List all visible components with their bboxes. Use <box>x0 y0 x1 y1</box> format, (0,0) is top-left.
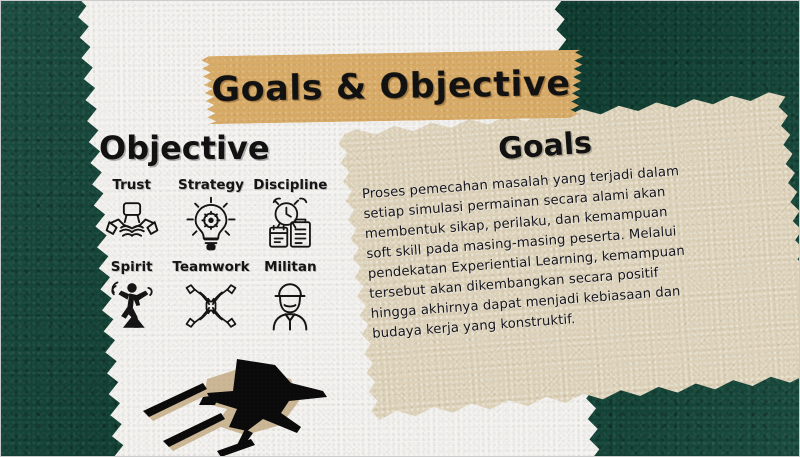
objective-icon-grid: Trust Strateg <box>93 177 329 335</box>
title-banner: Goals & Objective <box>196 50 585 125</box>
objective-item-discipline: Discipline <box>252 177 329 253</box>
objective-item-label: Spirit <box>111 259 153 275</box>
objective-item-label: Militan <box>264 259 317 275</box>
fighter-jet-icon <box>141 339 351 457</box>
objective-item-label: Trust <box>112 177 150 193</box>
person-cap-icon <box>261 277 319 335</box>
objective-item-militan: Militan <box>252 259 329 335</box>
alarm-clock-checklist-icon <box>261 195 319 253</box>
objective-item-trust: Trust <box>93 177 170 253</box>
objective-item-teamwork: Teamwork <box>172 259 249 335</box>
objective-item-strategy: Strategy <box>172 177 249 253</box>
handshake-icon <box>103 195 161 253</box>
joined-hands-icon <box>182 277 240 335</box>
lightbulb-gear-icon <box>182 195 240 253</box>
objective-heading: Objective <box>99 129 329 167</box>
objective-section: Objective Trust <box>89 129 329 335</box>
objective-item-spirit: Spirit <box>93 259 170 335</box>
person-climbing-icon <box>103 277 161 335</box>
objective-item-label: Strategy <box>178 177 244 193</box>
objective-item-label: Discipline <box>253 177 327 193</box>
beige-torn-paper-panel <box>333 88 800 422</box>
page-title: Goals & Objective <box>211 64 571 110</box>
slide-canvas: Goals & Objective Objective Trust <box>0 0 800 457</box>
objective-item-label: Teamwork <box>172 259 249 275</box>
